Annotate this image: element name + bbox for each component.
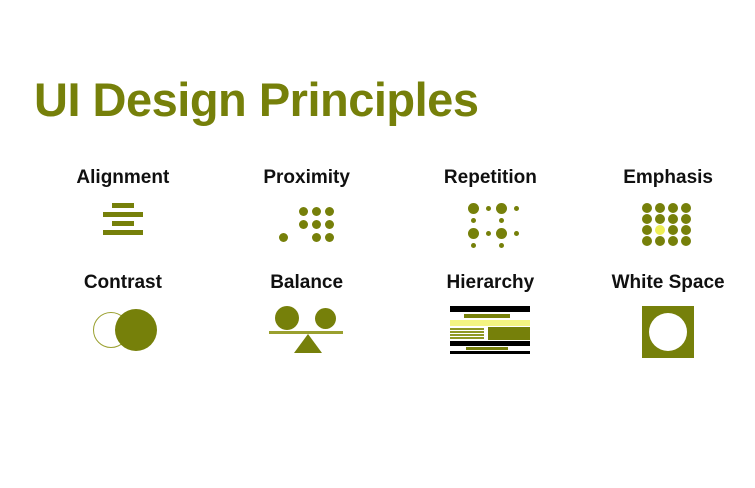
principle-label-emphasis: Emphasis — [623, 168, 713, 189]
hierarchy-bar — [450, 351, 530, 354]
principle-label-repetition: Repetition — [444, 168, 537, 189]
emphasis-dot — [655, 203, 665, 213]
alignment-bar-2 — [103, 212, 143, 217]
white-space-icon — [642, 306, 694, 358]
principle-card-emphasis[interactable]: Emphasis — [581, 168, 755, 273]
hierarchy-bar — [450, 341, 530, 346]
repetition-dot-small — [514, 206, 519, 211]
emphasis-dot — [642, 236, 652, 246]
emphasis-dot — [668, 214, 678, 224]
balance-fulcrum-triangle — [294, 334, 322, 353]
emphasis-dot — [681, 225, 691, 235]
principle-label-hierarchy: Hierarchy — [447, 273, 535, 294]
principle-icon-emphasis — [628, 199, 708, 251]
proximity-dot — [325, 233, 334, 242]
emphasis-dot — [668, 203, 678, 213]
alignment-bar-4 — [103, 230, 143, 235]
alignment-bar-3 — [112, 221, 134, 226]
contrast-filled-circle — [115, 309, 157, 351]
principles-grid: Alignment Proximity — [0, 168, 755, 373]
emphasis-dot — [668, 225, 678, 235]
principle-label-contrast: Contrast — [84, 273, 162, 294]
repetition-dots-icon — [460, 201, 520, 249]
repetition-dot-small — [471, 218, 476, 223]
principles-row-2: Contrast Balance — [0, 273, 755, 373]
repetition-dot-small — [471, 243, 476, 248]
principle-card-hierarchy[interactable]: Hierarchy — [404, 273, 578, 373]
hierarchy-bar — [450, 337, 484, 339]
principle-card-alignment[interactable]: Alignment — [36, 168, 210, 273]
proximity-dot — [312, 207, 321, 216]
hierarchy-bar — [450, 306, 530, 312]
principle-card-balance[interactable]: Balance — [220, 273, 394, 373]
white-space-circle — [649, 313, 687, 351]
hierarchy-block — [488, 327, 530, 340]
principle-icon-contrast — [83, 304, 163, 356]
principle-icon-repetition — [450, 199, 530, 251]
repetition-dot-small — [514, 231, 519, 236]
proximity-dot — [312, 233, 321, 242]
proximity-dot — [312, 220, 321, 229]
repetition-dot-small — [486, 231, 491, 236]
hierarchy-bar — [450, 334, 484, 336]
principle-icon-alignment — [83, 199, 163, 251]
proximity-dot — [325, 220, 334, 229]
repetition-dot-large — [468, 203, 479, 214]
emphasis-dot — [681, 214, 691, 224]
proximity-dot — [299, 207, 308, 216]
emphasis-dot — [642, 203, 652, 213]
emphasis-dot-highlighted — [655, 225, 665, 235]
principle-label-proximity: Proximity — [263, 168, 350, 189]
emphasis-dot — [642, 214, 652, 224]
hierarchy-bar — [450, 320, 530, 326]
principle-label-alignment: Alignment — [76, 168, 169, 189]
principles-row-1: Alignment Proximity — [0, 168, 755, 273]
principle-card-repetition[interactable]: Repetition — [404, 168, 578, 273]
balance-weight-left — [275, 306, 299, 330]
slide-canvas: UI Design Principles Alignment Proximity — [0, 0, 755, 488]
balance-scale-icon — [267, 306, 347, 354]
hierarchy-bar — [450, 328, 484, 330]
principle-icon-white-space — [628, 304, 708, 356]
alignment-bar-1 — [112, 203, 134, 208]
repetition-dot-large — [496, 203, 507, 214]
proximity-dot — [299, 220, 308, 229]
principle-icon-balance — [267, 304, 347, 356]
emphasis-dot — [681, 236, 691, 246]
balance-weight-right — [315, 308, 336, 329]
principle-label-balance: Balance — [270, 273, 343, 294]
hierarchy-bar — [464, 314, 510, 318]
principle-label-white-space: White Space — [612, 273, 725, 294]
repetition-dot-small — [499, 218, 504, 223]
emphasis-dots-icon — [642, 203, 694, 247]
hierarchy-bar — [450, 331, 484, 333]
principle-icon-hierarchy — [450, 304, 530, 356]
alignment-bars-icon — [98, 203, 148, 239]
proximity-dots-icon — [277, 203, 337, 243]
principle-icon-proximity — [267, 199, 347, 251]
emphasis-dot — [642, 225, 652, 235]
emphasis-dot — [655, 214, 665, 224]
contrast-circles-icon — [87, 308, 159, 352]
repetition-dot-small — [499, 243, 504, 248]
page-title: UI Design Principles — [34, 76, 478, 123]
emphasis-dot — [655, 236, 665, 246]
hierarchy-bars-icon — [450, 306, 530, 350]
hierarchy-bar — [466, 347, 508, 350]
principle-card-contrast[interactable]: Contrast — [36, 273, 210, 373]
principle-card-white-space[interactable]: White Space — [581, 273, 755, 373]
repetition-dot-small — [486, 206, 491, 211]
proximity-dot — [325, 207, 334, 216]
emphasis-dot — [668, 236, 678, 246]
principle-card-proximity[interactable]: Proximity — [220, 168, 394, 273]
repetition-dot-large — [468, 228, 479, 239]
proximity-isolated-dot — [279, 233, 288, 242]
emphasis-dot — [681, 203, 691, 213]
repetition-dot-large — [496, 228, 507, 239]
